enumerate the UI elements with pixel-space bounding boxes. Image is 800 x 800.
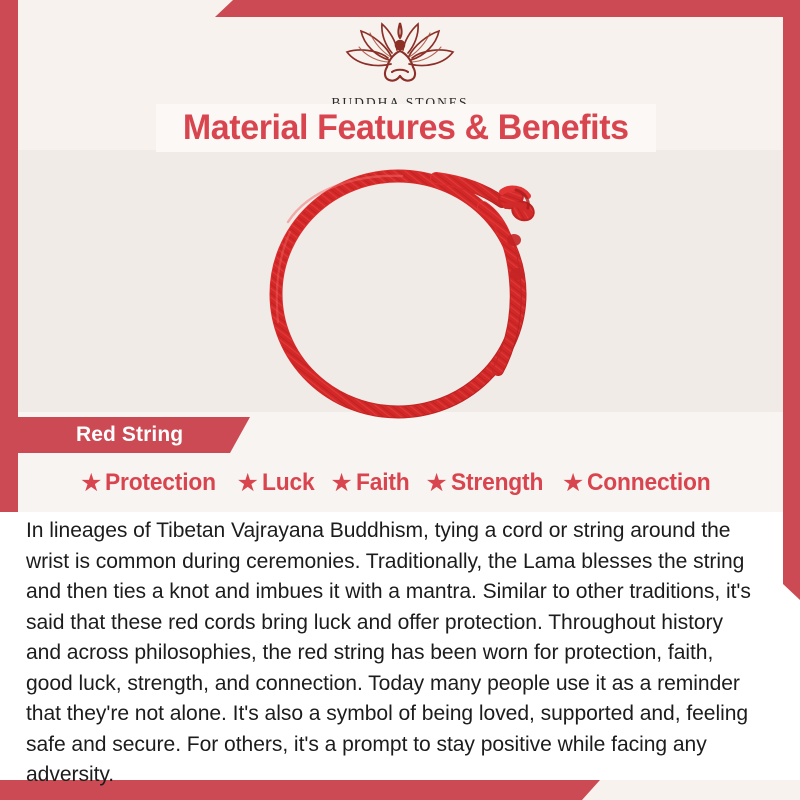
feature-label: Protection xyxy=(105,469,216,497)
feature-item-strength: ★ Strength xyxy=(420,469,555,497)
star-icon: ★ xyxy=(425,471,447,496)
feature-label: Faith xyxy=(356,469,410,497)
feature-label: Luck xyxy=(262,469,314,497)
feature-item-faith: ★ Faith xyxy=(325,469,418,497)
star-icon: ★ xyxy=(80,471,102,496)
star-icon: ★ xyxy=(330,471,352,496)
material-label-banner: Red String xyxy=(18,417,250,453)
star-icon: ★ xyxy=(562,471,584,496)
page-title-banner: Material Features & Benefits xyxy=(156,104,656,152)
product-image xyxy=(240,162,580,422)
feature-item-protection: ★ Protection xyxy=(75,469,230,497)
decorative-bar-top xyxy=(215,0,800,17)
material-label: Red String xyxy=(76,423,183,447)
material-description: In lineages of Tibetan Vajrayana Buddhis… xyxy=(26,515,763,790)
page-title: Material Features & Benefits xyxy=(183,108,629,148)
feature-item-luck: ★ Luck xyxy=(232,469,324,497)
feature-label: Connection xyxy=(587,469,710,497)
brand-logo: BUDDHA STONES xyxy=(0,20,800,111)
feature-list: ★ Protection ★ Luck ★ Faith ★ Strength ★… xyxy=(18,463,782,503)
infographic-card: BUDDHA STONES Material Features & Benefi… xyxy=(0,0,800,800)
feature-item-connection: ★ Connection xyxy=(557,469,725,497)
feature-label: Strength xyxy=(451,469,543,497)
star-icon: ★ xyxy=(237,471,259,496)
lotus-meditation-figure-icon xyxy=(0,20,800,92)
